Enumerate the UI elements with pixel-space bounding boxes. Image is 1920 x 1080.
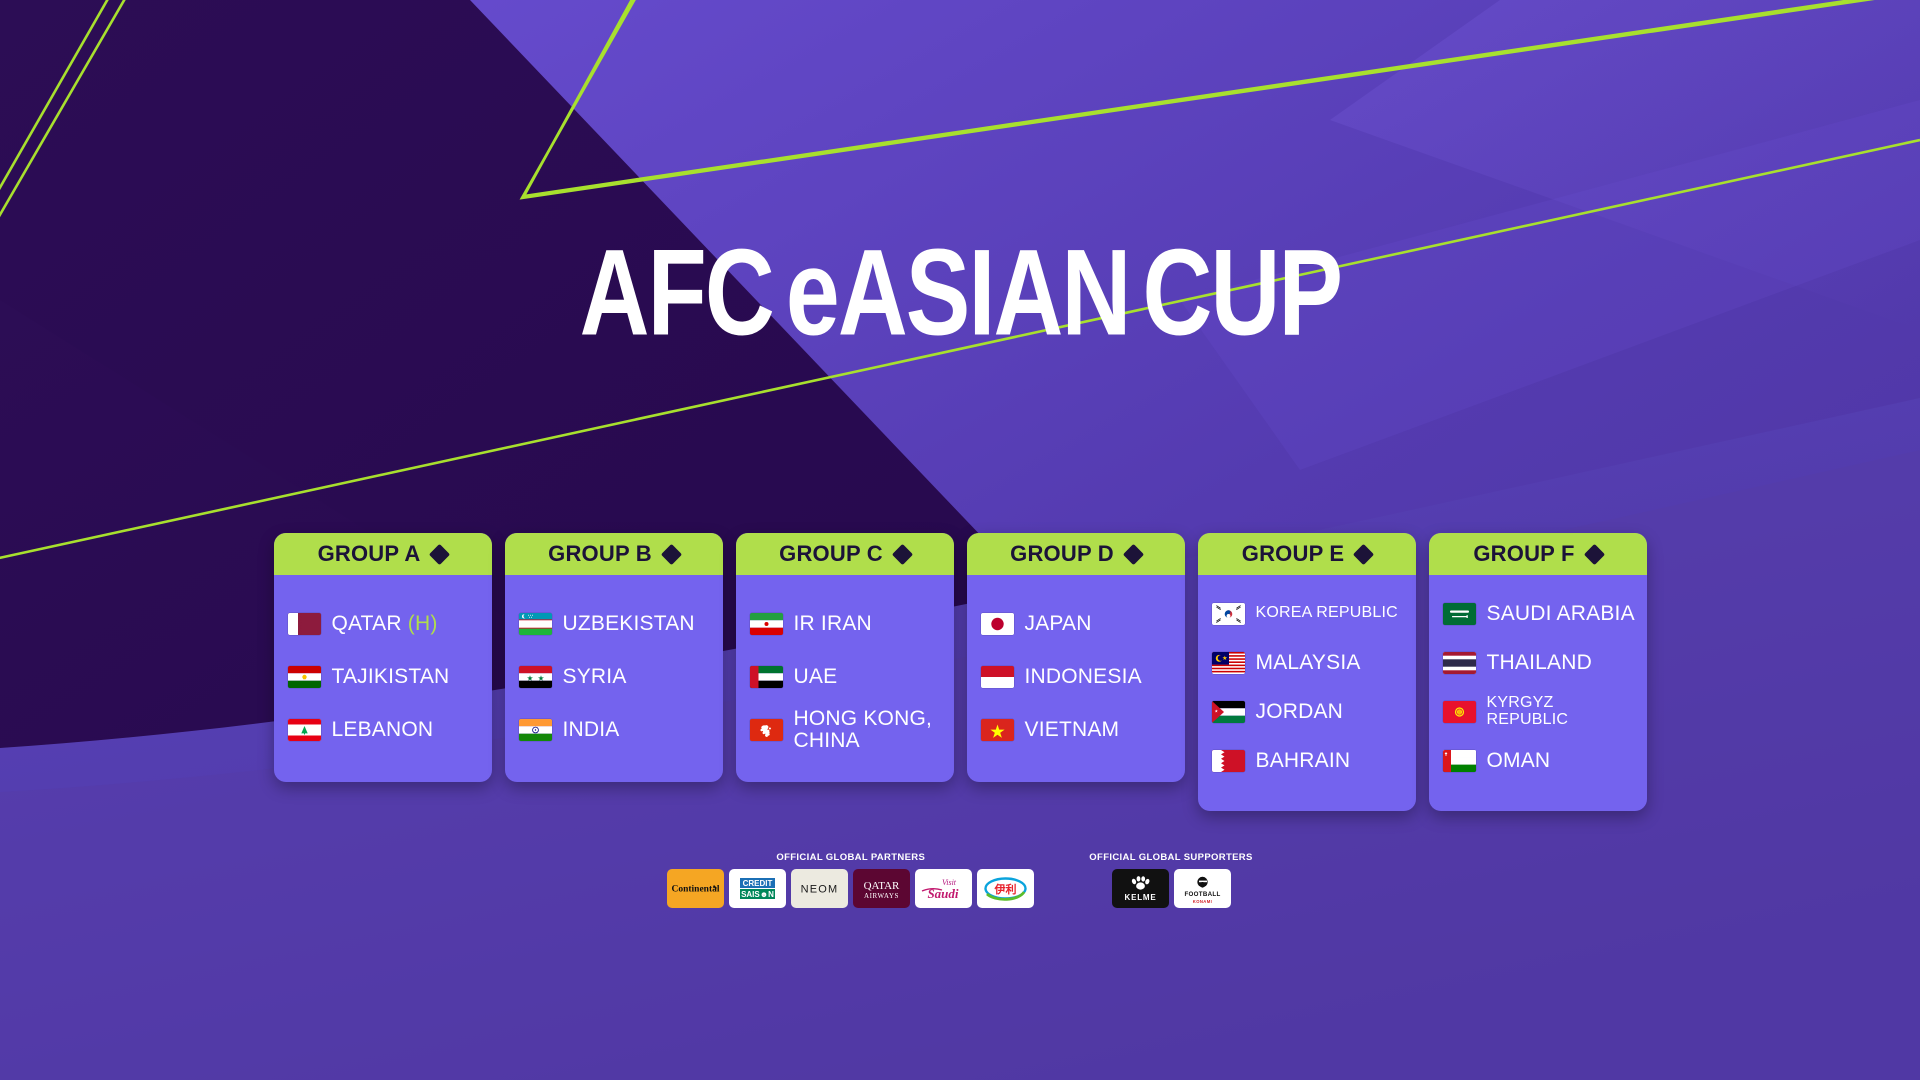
team-name: OMAN xyxy=(1487,750,1551,772)
team-row[interactable]: VIETNAM xyxy=(981,703,1175,756)
group-header-d: GROUP D xyxy=(967,533,1185,575)
team-row[interactable]: UZBEKISTAN xyxy=(519,597,713,650)
group-cards-container: GROUP A QATAR (H) TAJIKISTAN xyxy=(0,533,1920,811)
svg-text:KONAMI: KONAMI xyxy=(1192,899,1211,904)
group-label-b: GROUP B xyxy=(548,541,652,567)
group-team-list-f: SAUDI ARABIA THAILAND KYRGYZ REPUBLIC xyxy=(1429,575,1647,811)
team-name: SYRIA xyxy=(563,666,627,688)
team-row[interactable]: JORDAN xyxy=(1212,687,1406,736)
group-team-list-a: QATAR (H) TAJIKISTAN LEBANON xyxy=(274,575,492,782)
supporters-label: OFFICIAL GLOBAL SUPPORTERS xyxy=(1089,852,1252,863)
group-team-list-e: KOREA REPUBLIC MALAYSIA JORDAN xyxy=(1198,575,1416,811)
saudiarabia-flag xyxy=(1443,603,1476,625)
team-name: INDONESIA xyxy=(1025,666,1142,688)
team-name: MALAYSIA xyxy=(1256,652,1361,674)
vietnam-flag xyxy=(981,719,1014,741)
japan-flag xyxy=(981,613,1014,635)
group-team-list-b: UZBEKISTAN SYRIA INDIA xyxy=(505,575,723,782)
svg-text:伊利: 伊利 xyxy=(994,882,1017,896)
diamond-icon xyxy=(892,543,913,564)
team-row[interactable]: MALAYSIA xyxy=(1212,638,1406,687)
diamond-icon xyxy=(661,543,682,564)
group-header-a: GROUP A xyxy=(274,533,492,575)
group-card-b[interactable]: GROUP B UZBEKISTAN SYRIA xyxy=(505,533,723,782)
team-name: KYRGYZ REPUBLIC xyxy=(1487,695,1637,728)
svg-text:Continental: Continental xyxy=(672,885,720,895)
svg-text:AIRWAYS: AIRWAYS xyxy=(864,892,899,900)
group-label-a: GROUP A xyxy=(318,541,421,567)
bahrain-flag xyxy=(1212,750,1245,772)
credit-saison-logo[interactable]: CREDIT SAIS☻N xyxy=(729,869,786,908)
thailand-flag xyxy=(1443,652,1476,674)
tajikistan-flag xyxy=(288,666,321,688)
group-label-e: GROUP E xyxy=(1242,541,1344,567)
uae-flag xyxy=(750,666,783,688)
team-row[interactable]: KOREA REPUBLIC xyxy=(1212,589,1406,638)
svg-text:QATAR: QATAR xyxy=(864,880,900,892)
syria-flag xyxy=(519,666,552,688)
team-row[interactable]: SAUDI ARABIA xyxy=(1443,589,1637,638)
continental-logo[interactable]: Continental xyxy=(667,869,724,908)
team-name: THAILAND xyxy=(1487,652,1592,674)
diamond-icon xyxy=(1584,543,1605,564)
group-header-c: GROUP C xyxy=(736,533,954,575)
iran-flag xyxy=(750,613,783,635)
team-name: BAHRAIN xyxy=(1256,750,1351,772)
group-header-f: GROUP F xyxy=(1429,533,1647,575)
team-row[interactable]: OMAN xyxy=(1443,736,1637,785)
malaysia-flag xyxy=(1212,652,1245,674)
team-row[interactable]: UAE xyxy=(750,650,944,703)
kelme-logo[interactable]: KELME xyxy=(1112,869,1169,908)
team-name: VIETNAM xyxy=(1025,719,1120,741)
diamond-icon xyxy=(1353,543,1374,564)
visit-saudi-logo[interactable]: Visit Saudi xyxy=(915,869,972,908)
group-team-list-c: IR IRAN UAE HONG KONG, CHINA xyxy=(736,575,954,782)
svg-text:KELME: KELME xyxy=(1124,893,1156,902)
group-card-c[interactable]: GROUP C IR IRAN UAE xyxy=(736,533,954,782)
host-badge: (H) xyxy=(408,612,438,635)
qatar-flag xyxy=(288,613,321,635)
sponsor-strip: OFFICIAL GLOBAL PARTNERS Continental CRE… xyxy=(0,852,1920,908)
efootball-logo[interactable]: FOOTBALL KONAMI xyxy=(1174,869,1231,908)
partners-logo-row: Continental CREDIT SAIS☻N NEOM xyxy=(667,869,1034,908)
team-name: UAE xyxy=(794,666,838,688)
yili-logo[interactable]: 伊利 xyxy=(977,869,1034,908)
team-row[interactable]: BAHRAIN xyxy=(1212,736,1406,785)
official-global-partners-block: OFFICIAL GLOBAL PARTNERS Continental CRE… xyxy=(667,852,1034,908)
partners-label: OFFICIAL GLOBAL PARTNERS xyxy=(776,852,925,863)
group-card-d[interactable]: GROUP D JAPAN INDONESIA xyxy=(967,533,1185,782)
team-name: UZBEKISTAN xyxy=(563,613,695,635)
svg-text:SAIS☻N: SAIS☻N xyxy=(741,890,774,899)
team-row[interactable]: JAPAN xyxy=(981,597,1175,650)
diamond-icon xyxy=(429,543,450,564)
uzbekistan-flag xyxy=(519,613,552,635)
team-row[interactable]: LEBANON xyxy=(288,703,482,756)
team-row[interactable]: KYRGYZ REPUBLIC xyxy=(1443,687,1637,736)
team-name: KOREA REPUBLIC xyxy=(1256,605,1398,622)
jordan-flag xyxy=(1212,701,1245,723)
team-row[interactable]: SYRIA xyxy=(519,650,713,703)
group-card-e[interactable]: GROUP E KOREA REPUBLIC MALAYSIA xyxy=(1198,533,1416,811)
team-name: INDIA xyxy=(563,719,620,741)
qatar-airways-logo[interactable]: QATAR AIRWAYS xyxy=(853,869,910,908)
team-row[interactable]: INDIA xyxy=(519,703,713,756)
diamond-icon xyxy=(1123,543,1144,564)
kyrgyzstan-flag xyxy=(1443,701,1476,723)
team-row[interactable]: IR IRAN xyxy=(750,597,944,650)
team-name: JAPAN xyxy=(1025,613,1092,635)
team-row[interactable]: THAILAND xyxy=(1443,638,1637,687)
team-name: TAJIKISTAN xyxy=(332,666,450,688)
tournament-group-draw-screen: AFCeASIANCUP GROUP A QATAR (H) xyxy=(0,0,1920,1080)
team-row[interactable]: QATAR (H) xyxy=(288,597,482,650)
india-flag xyxy=(519,719,552,741)
group-card-f[interactable]: GROUP F SAUDI ARABIA THAILAND xyxy=(1429,533,1647,811)
team-row[interactable]: HONG KONG, CHINA xyxy=(750,703,944,756)
team-name: JORDAN xyxy=(1256,701,1344,723)
team-row[interactable]: TAJIKISTAN xyxy=(288,650,482,703)
group-header-b: GROUP B xyxy=(505,533,723,575)
official-global-supporters-block: OFFICIAL GLOBAL SUPPORTERS KELME xyxy=(1089,852,1252,908)
group-label-d: GROUP D xyxy=(1010,541,1114,567)
group-team-list-d: JAPAN INDONESIA VIETNAM xyxy=(967,575,1185,782)
supporters-logo-row: KELME FOOTBALL KONAMI xyxy=(1112,869,1231,908)
svg-text:NEOM: NEOM xyxy=(801,884,839,896)
team-name: IR IRAN xyxy=(794,613,872,635)
oman-flag xyxy=(1443,750,1476,772)
group-label-f: GROUP F xyxy=(1473,541,1574,567)
team-name: LEBANON xyxy=(332,719,434,741)
indonesia-flag xyxy=(981,666,1014,688)
hongkong-flag xyxy=(750,719,783,741)
neom-logo[interactable]: NEOM xyxy=(791,869,848,908)
svg-text:CREDIT: CREDIT xyxy=(743,879,773,888)
team-name: QATAR (H) xyxy=(332,613,438,635)
svg-text:FOOTBALL: FOOTBALL xyxy=(1184,891,1220,898)
team-row[interactable]: INDONESIA xyxy=(981,650,1175,703)
team-name: HONG KONG, CHINA xyxy=(794,708,944,752)
group-card-a[interactable]: GROUP A QATAR (H) TAJIKISTAN xyxy=(274,533,492,782)
group-header-e: GROUP E xyxy=(1198,533,1416,575)
korea-flag xyxy=(1212,603,1245,625)
lebanon-flag xyxy=(288,719,321,741)
group-label-c: GROUP C xyxy=(779,541,883,567)
team-name: SAUDI ARABIA xyxy=(1487,603,1635,625)
